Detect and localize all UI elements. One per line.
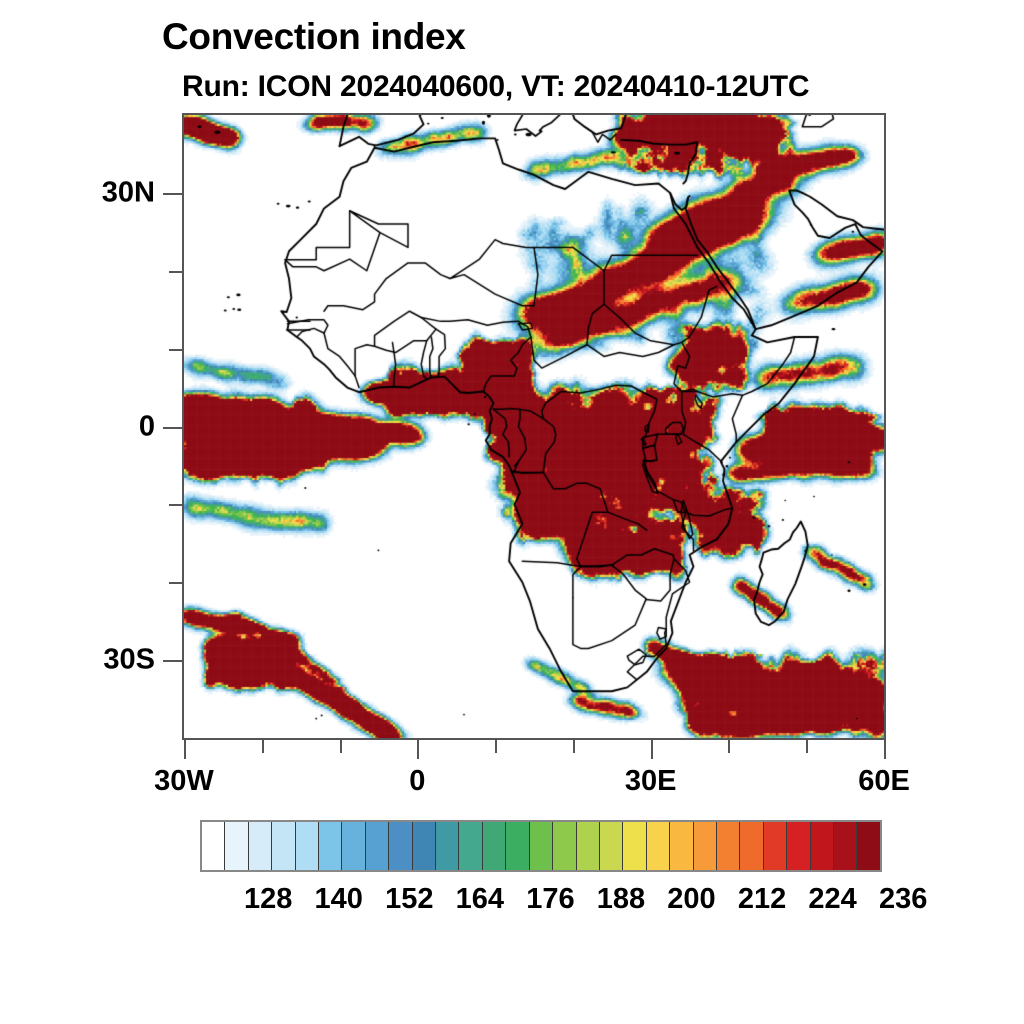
x-tick-minor [495, 740, 497, 753]
colorbar-cell [670, 822, 693, 870]
y-tick-minor [169, 504, 182, 506]
colorbar-cell [319, 822, 342, 870]
colorbar-cell [413, 822, 436, 870]
colorbar-tick-label: 164 [456, 883, 504, 916]
x-tick-minor [806, 740, 808, 753]
colorbar-cell [834, 822, 857, 870]
convection-index-figure: Convection index Run: ICON 2024040600, V… [0, 0, 1024, 1024]
colorbar-cell [764, 822, 787, 870]
colorbar-cell [717, 822, 740, 870]
colorbar-tick-label: 140 [315, 883, 363, 916]
colorbar-cell [577, 822, 600, 870]
colorbar-cell [436, 822, 459, 870]
x-axis-label: 0 [409, 765, 425, 798]
page-title: Convection index [162, 16, 466, 58]
colorbar-cell [623, 822, 646, 870]
colorbar-tick-label: 200 [667, 883, 715, 916]
x-tick-minor [573, 740, 575, 753]
y-tick-minor [169, 271, 182, 273]
y-axis-label: 30S [103, 644, 155, 677]
colorbar [200, 820, 882, 872]
x-tick-minor [262, 740, 264, 753]
colorbar-tick-label: 212 [738, 883, 786, 916]
x-axis-label: 60E [858, 765, 910, 798]
colorbar-cell [225, 822, 248, 870]
x-tick-major [884, 740, 886, 759]
colorbar-cell [787, 822, 810, 870]
colorbar-cell [553, 822, 576, 870]
colorbar-tick-label: 188 [597, 883, 645, 916]
colorbar-cell [694, 822, 717, 870]
x-tick-major [184, 740, 186, 759]
colorbar-cell [342, 822, 365, 870]
colorbar-gradient [200, 820, 882, 872]
x-tick-minor [728, 740, 730, 753]
y-tick-major [163, 660, 182, 662]
x-tick-minor [340, 740, 342, 753]
map-plot-area [182, 113, 886, 740]
convection-heatmap-canvas [184, 115, 884, 738]
colorbar-cell [506, 822, 529, 870]
colorbar-cell [366, 822, 389, 870]
x-axis-label: 30E [625, 765, 677, 798]
colorbar-cell [647, 822, 670, 870]
colorbar-cell [389, 822, 412, 870]
x-tick-major [651, 740, 653, 759]
colorbar-cell [483, 822, 506, 870]
colorbar-cell [202, 822, 225, 870]
colorbar-tick-label: 152 [385, 883, 433, 916]
y-axis-label: 30N [102, 176, 155, 209]
colorbar-tick-label: 224 [808, 883, 856, 916]
y-tick-minor [169, 582, 182, 584]
x-axis-label: 30W [154, 765, 214, 798]
colorbar-cell [600, 822, 623, 870]
x-tick-major [417, 740, 419, 759]
colorbar-cell [272, 822, 295, 870]
colorbar-tick-label: 236 [879, 883, 927, 916]
colorbar-cell [740, 822, 763, 870]
y-tick-minor [169, 349, 182, 351]
colorbar-tick-label: 128 [244, 883, 292, 916]
colorbar-cell [811, 822, 834, 870]
colorbar-cell [857, 822, 879, 870]
colorbar-tick-label: 176 [526, 883, 574, 916]
y-axis-label: 0 [139, 410, 155, 443]
colorbar-cell [459, 822, 482, 870]
chart-subtitle: Run: ICON 2024040600, VT: 20240410-12UTC [182, 70, 809, 104]
colorbar-cell [249, 822, 272, 870]
colorbar-cell [296, 822, 319, 870]
colorbar-cell [530, 822, 553, 870]
y-tick-major [163, 193, 182, 195]
y-tick-major [163, 427, 182, 429]
